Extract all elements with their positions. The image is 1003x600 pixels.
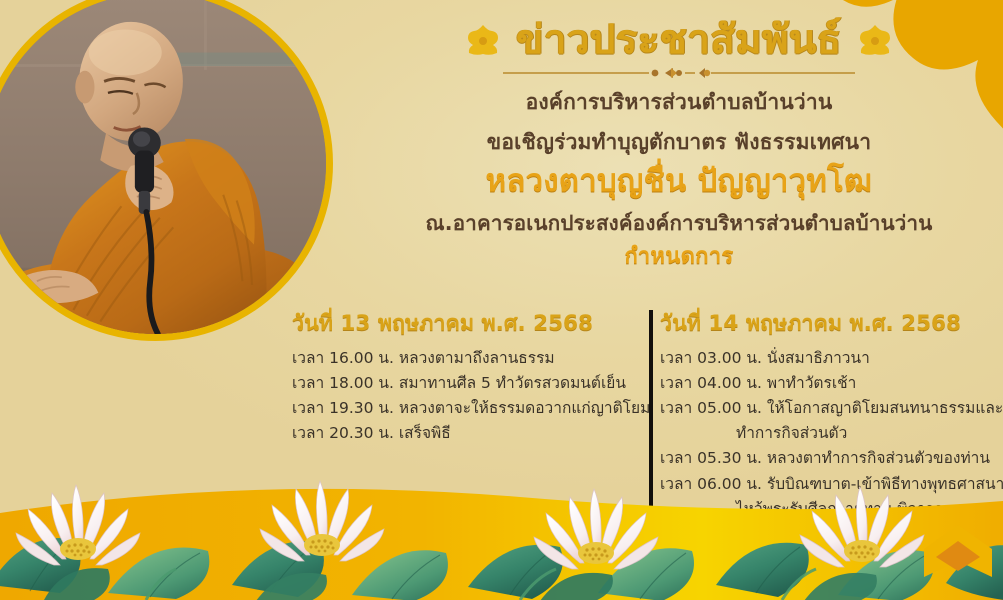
schedule-item-text: เวลา 16.00 น. หลวงตามาถึงลานธรรม bbox=[292, 349, 555, 367]
schedule-label: กำหนดการ bbox=[355, 241, 1003, 273]
schedule-item-text: เวลา 06.00 น. รับบิณฑบาต-เข้าพิธีทางพุทธ… bbox=[660, 475, 1003, 493]
monk-portrait-frame bbox=[0, 0, 333, 341]
schedule-item-text: เวลา 05.00 น. ให้โอกาสญาติโยมสนทนาธรรมแล… bbox=[660, 399, 1003, 417]
monk-portrait-image bbox=[0, 0, 326, 334]
title-divider-ornament bbox=[499, 65, 859, 81]
schedule-item-continuation: ไหว้พระรับศีลถวายทาน พิจารณา bbox=[660, 497, 1003, 522]
schedule-column-day1: วันที่ 13 พฤษภาคม พ.ศ. 2568 เวลา 16.00 น… bbox=[292, 306, 644, 521]
quatrefoil-ornament-left-icon bbox=[466, 23, 500, 57]
schedule-item: เวลา 03.00 น. นั่งสมาธิภาวนา bbox=[660, 346, 1003, 371]
schedule-item-text: เวลา 05.30 น. หลวงตาทำการกิจส่วนตัวของท่… bbox=[660, 449, 990, 467]
schedule-item-text: เวลา 04.00 น. พาทำวัตรเช้า bbox=[660, 374, 856, 392]
schedule-item-text: เวลา 03.00 น. นั่งสมาธิภาวนา bbox=[660, 349, 870, 367]
announcement-poster: ข่าวประชาสัมพันธ์ องค์การบริหารส่วนตำบลบ… bbox=[0, 0, 1003, 600]
quatrefoil-ornament-right-icon bbox=[858, 23, 892, 57]
schedule-item-continuation: ทำการกิจส่วนตัว bbox=[660, 421, 1003, 446]
schedule-item-text: เวลา 20.30 น. เสร็จพิธี bbox=[292, 424, 451, 442]
venue-line: ณ.อาคารอเนกประสงค์องค์การบริหารส่วนตำบลบ… bbox=[355, 208, 1003, 239]
schedule-item: เวลา 05.00 น. ให้โอกาสญาติโยมสนทนาธรรมแล… bbox=[660, 396, 1003, 446]
header-block: ข่าวประชาสัมพันธ์ องค์การบริหารส่วนตำบลบ… bbox=[355, 18, 1003, 273]
main-title-row: ข่าวประชาสัมพันธ์ bbox=[355, 18, 1003, 63]
schedule-item: เวลา 05.30 น. หลวงตาทำการกิจส่วนตัวของท่… bbox=[660, 446, 1003, 471]
organization-name: องค์การบริหารส่วนตำบลบ้านว่าน bbox=[355, 87, 1003, 119]
date-heading-day1: วันที่ 13 พฤษภาคม พ.ศ. 2568 bbox=[292, 306, 630, 340]
schedule-item: เวลา 19.30 น. หลวงตาจะให้ธรรมดอวากแก่ญาต… bbox=[292, 396, 630, 421]
schedule-list-day2: เวลา 03.00 น. นั่งสมาธิภาวนา เวลา 04.00 … bbox=[660, 346, 1003, 547]
monk-name: หลวงตาบุญชื่น ปัญญาวุทโฒ bbox=[355, 159, 1003, 204]
date-heading-day2: วันที่ 14 พฤษภาคม พ.ศ. 2568 bbox=[660, 306, 1003, 340]
schedule-item: เวลา 16.00 น. หลวงตามาถึงลานธรรม bbox=[292, 346, 630, 371]
schedule-item-text: เวลา 18.00 น. สมาทานศีล 5 ทำวัตรสวดมนต์เ… bbox=[292, 374, 626, 392]
schedule-item: เวลา 06.00 น. รับบิณฑบาต-เข้าพิธีทางพุทธ… bbox=[660, 472, 1003, 547]
page-title: ข่าวประชาสัมพันธ์ bbox=[516, 18, 842, 63]
schedule-item: เวลา 18.00 น. สมาทานศีล 5 ทำวัตรสวดมนต์เ… bbox=[292, 371, 630, 396]
invitation-line: ขอเชิญร่วมทำบุญตักบาตร ฟังธรรมเทศนา bbox=[355, 127, 1003, 159]
schedule-item-continuation: อาหาร อนุโมทนาบุญให้พร bbox=[660, 522, 1003, 547]
schedule-list-day1: เวลา 16.00 น. หลวงตามาถึงลานธรรม เวลา 18… bbox=[292, 346, 630, 446]
schedule-section: วันที่ 13 พฤษภาคม พ.ศ. 2568 เวลา 16.00 น… bbox=[292, 306, 1003, 521]
schedule-column-day2: วันที่ 14 พฤษภาคม พ.ศ. 2568 เวลา 03.00 น… bbox=[644, 306, 1003, 521]
schedule-item-text: เวลา 19.30 น. หลวงตาจะให้ธรรมดอวากแก่ญาต… bbox=[292, 399, 650, 417]
schedule-item: เวลา 04.00 น. พาทำวัตรเช้า bbox=[660, 371, 1003, 396]
schedule-item: เวลา 20.30 น. เสร็จพิธี bbox=[292, 421, 630, 446]
